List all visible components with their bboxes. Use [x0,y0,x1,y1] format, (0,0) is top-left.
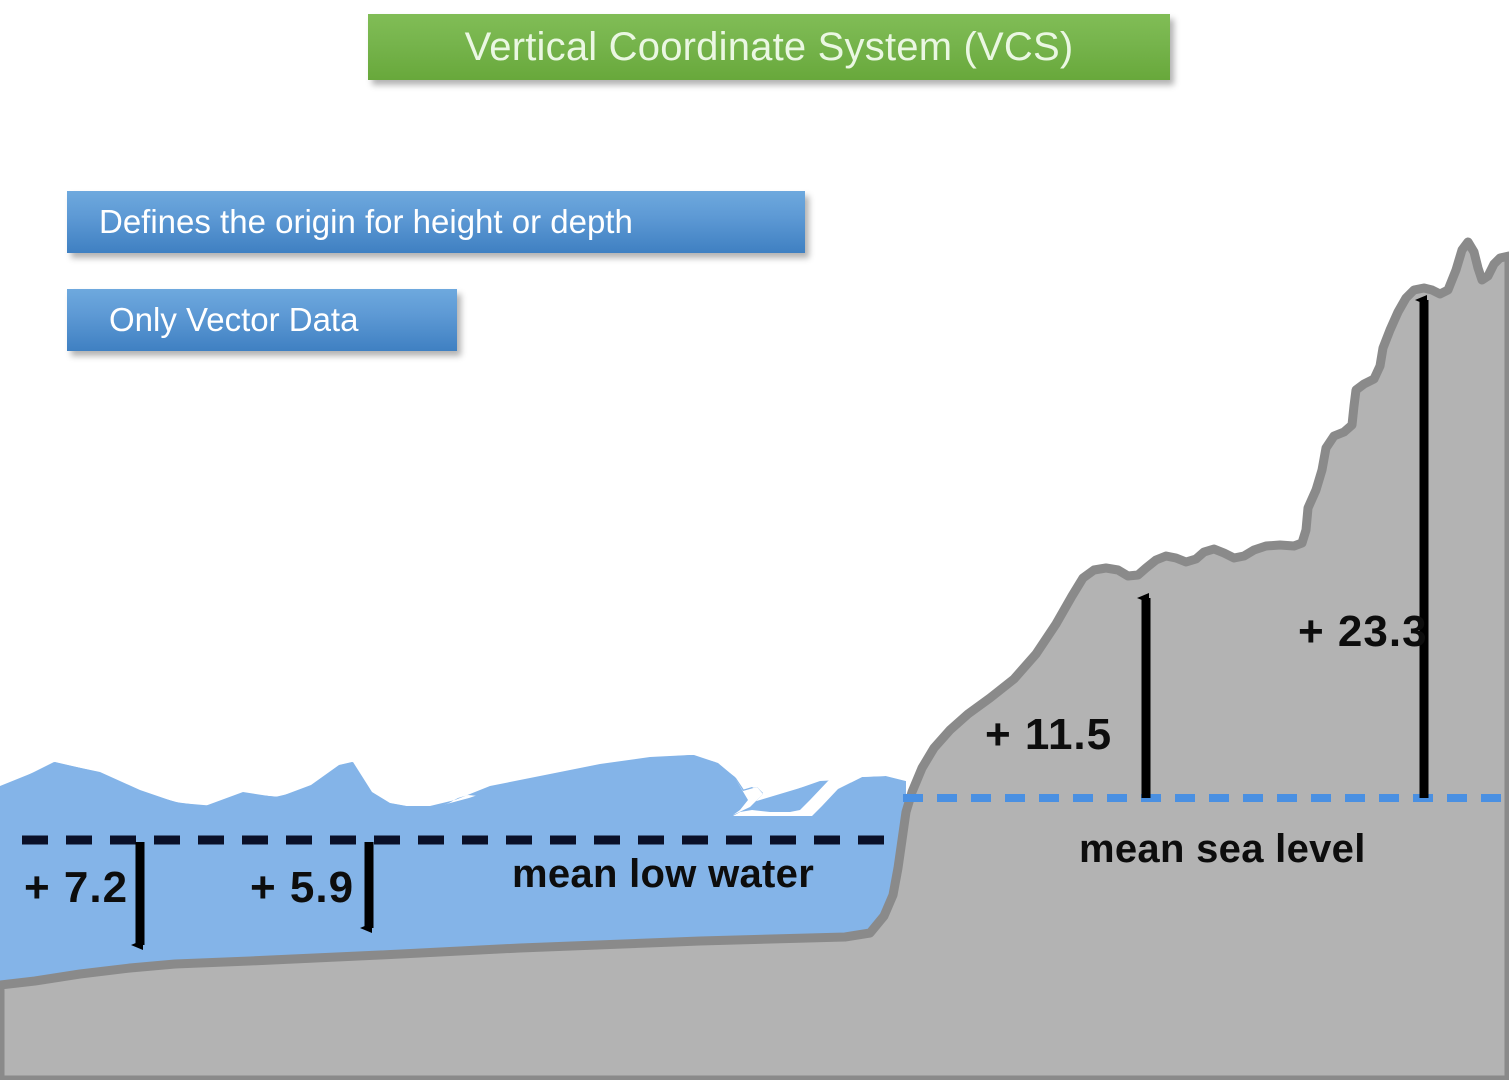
title-text: Vertical Coordinate System (VCS) [465,25,1074,70]
callout-origin-label: Defines the origin for height or depth [99,203,633,241]
measurement-label-11-5: + 11.5 [985,713,1112,757]
callout-defines-origin: Defines the origin for height or depth [67,191,805,253]
measurement-label-23-3: + 23.3 [1298,610,1428,654]
diagram-canvas: Vertical Coordinate System (VCS) Defines… [0,0,1509,1080]
vcs-cross-section-illustration [0,0,1509,1080]
mean-low-water-label: mean low water [512,854,814,894]
mean-sea-level-label: mean sea level [1079,829,1366,869]
title-banner: Vertical Coordinate System (VCS) [368,14,1170,80]
callout-only-vector-data: Only Vector Data [67,289,457,351]
callout-vector-label: Only Vector Data [109,301,358,339]
measurement-label-5-9: + 5.9 [250,866,354,910]
measurement-label-7-2: + 7.2 [24,866,128,910]
